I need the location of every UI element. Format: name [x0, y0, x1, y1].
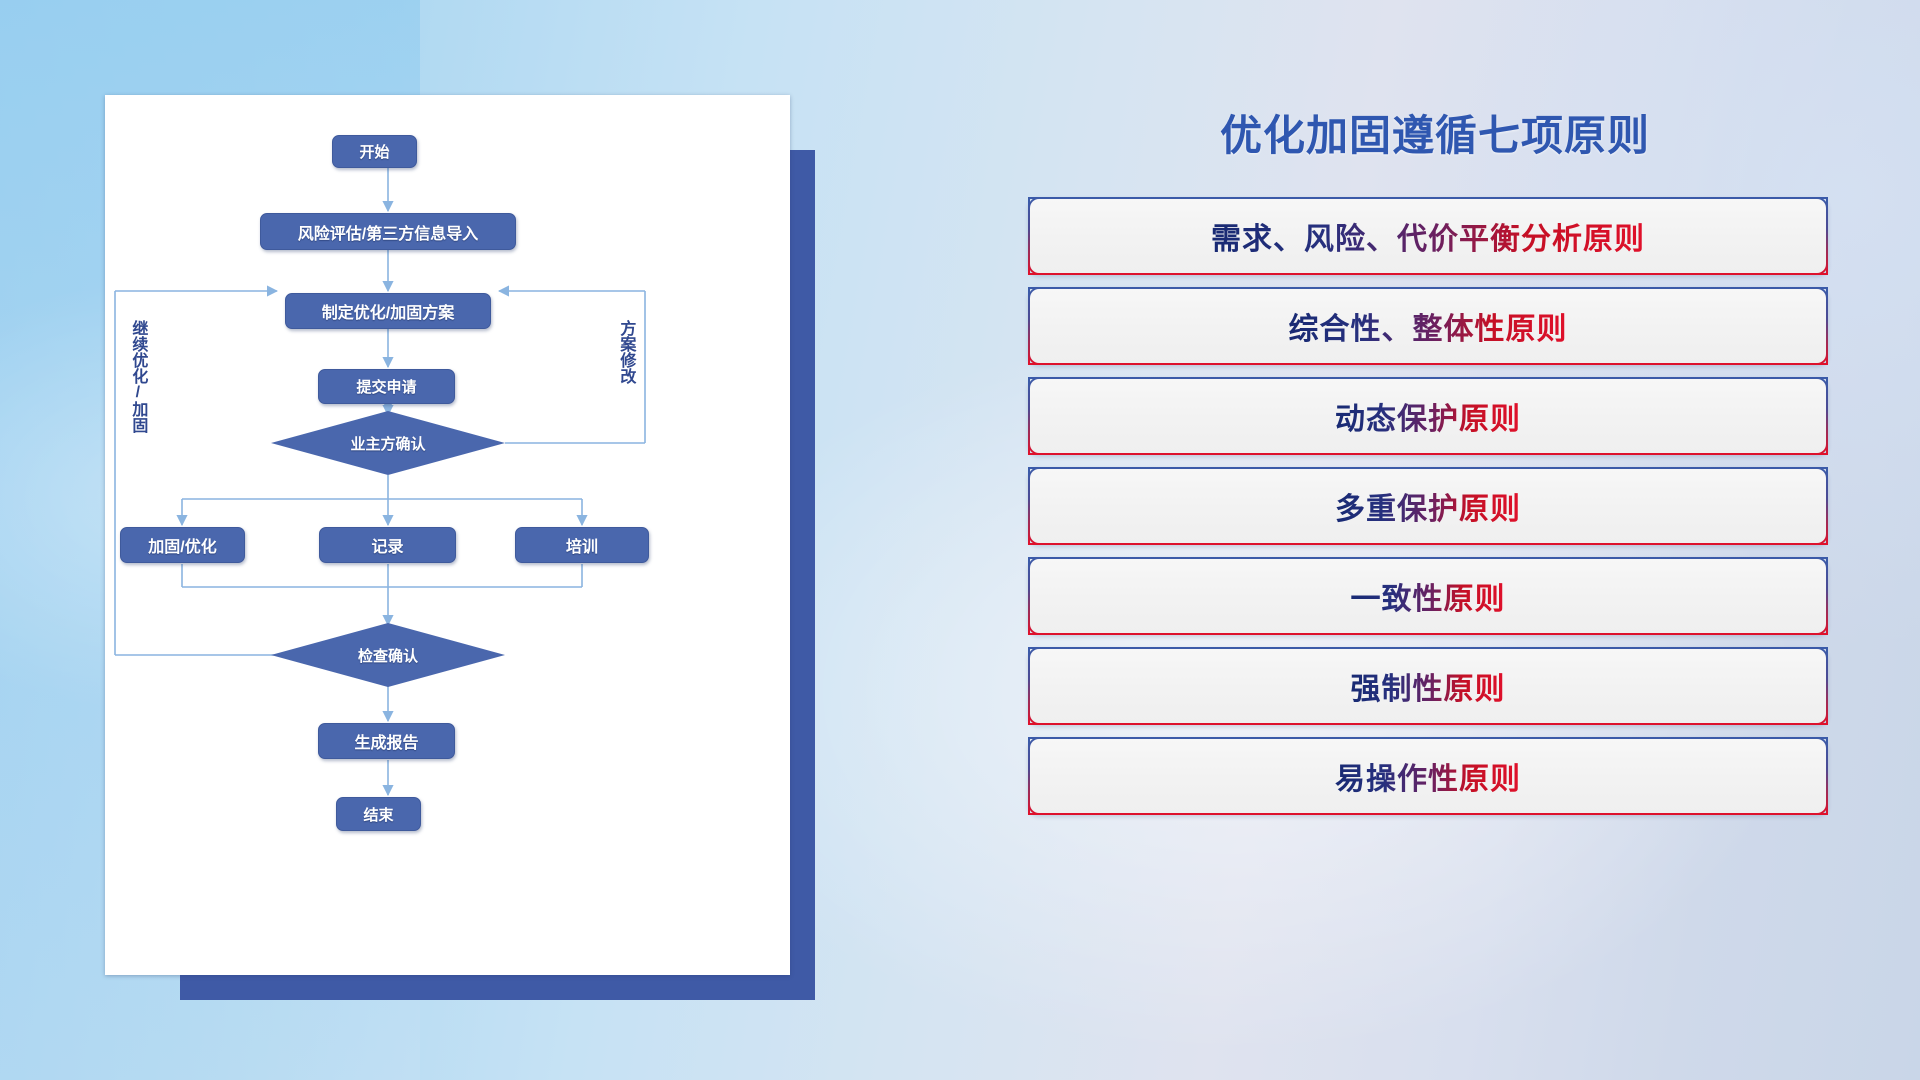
flow-node-label: 生成报告	[354, 729, 418, 753]
principle-label: 强制性原则	[1351, 664, 1506, 708]
flow-node-label: 提交申请	[356, 376, 416, 397]
flow-node-owner-confirm: 业主方确认	[271, 411, 505, 475]
flow-node-label: 风险评估/第三方信息导入	[298, 220, 478, 244]
flow-node-record: 记录	[319, 527, 456, 563]
principle-item-4[interactable]: 多重保护原则	[1028, 467, 1828, 545]
flow-node-reinforce-optimize: 加固/优化	[120, 527, 245, 563]
flow-node-label: 记录	[371, 533, 403, 557]
principle-label: 动态保护原则	[1335, 394, 1521, 438]
principles-panel: 优化加固遵循七项原则 需求、风险、代价平衡分析原则 综合性、整体性原则 动态保护…	[1020, 80, 1850, 1010]
flow-node-label: 制定优化/加固方案	[322, 299, 454, 323]
flow-node-end: 结束	[336, 797, 421, 831]
flowchart-card: 开始 风险评估/第三方信息导入 制定优化/加固方案 提交申请 业主方确认 加固/…	[105, 95, 790, 975]
principle-label: 综合性、整体性原则	[1289, 304, 1568, 348]
flow-node-check-confirm: 检查确认	[271, 623, 505, 687]
principle-item-7[interactable]: 易操作性原则	[1028, 737, 1828, 815]
flow-node-risk-assessment: 风险评估/第三方信息导入	[260, 213, 516, 250]
flow-node-label: 业主方确认	[350, 433, 425, 454]
flow-node-label: 检查确认	[358, 645, 418, 666]
flow-node-label: 加固/优化	[148, 533, 216, 557]
principle-item-2[interactable]: 综合性、整体性原则	[1028, 287, 1828, 365]
principle-item-3[interactable]: 动态保护原则	[1028, 377, 1828, 455]
principle-item-6[interactable]: 强制性原则	[1028, 647, 1828, 725]
principle-label: 多重保护原则	[1335, 484, 1521, 528]
principle-label: 一致性原则	[1351, 574, 1506, 618]
flow-node-label: 结束	[363, 804, 393, 825]
flow-node-training: 培训	[515, 527, 649, 563]
flow-node-label: 培训	[566, 533, 598, 557]
principle-item-5[interactable]: 一致性原则	[1028, 557, 1828, 635]
flow-edge-label-continue-optimize: 继续优化/加固	[129, 320, 145, 465]
principle-label: 易操作性原则	[1335, 754, 1521, 798]
flow-node-generate-report: 生成报告	[318, 723, 455, 759]
flow-node-submit-application: 提交申请	[318, 369, 455, 404]
flow-node-plan: 制定优化/加固方案	[285, 293, 491, 329]
flow-node-start: 开始	[332, 135, 417, 168]
principle-label: 需求、风险、代价平衡分析原则	[1211, 214, 1645, 258]
principle-item-1[interactable]: 需求、风险、代价平衡分析原则	[1028, 197, 1828, 275]
page-title: 优化加固遵循七项原则	[1020, 102, 1850, 163]
flow-node-label: 开始	[359, 141, 389, 162]
flow-edge-label-plan-revision: 方案修改	[617, 320, 633, 430]
